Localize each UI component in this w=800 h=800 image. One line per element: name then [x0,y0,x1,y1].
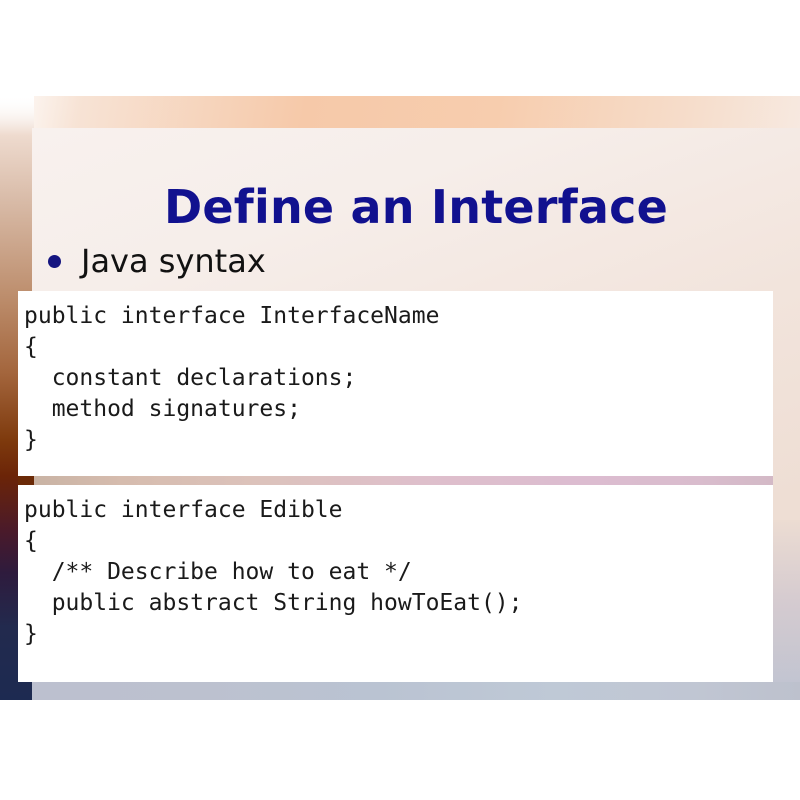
code-gap-sliver-left [18,476,34,485]
page-title: Define an Interface [32,173,800,241]
code-block-interface-syntax: public interface InterfaceName { constan… [18,291,773,476]
bullet-item-label: Java syntax [81,245,266,277]
code-block-separator [34,476,773,485]
code-text: public interface Edible { /** Describe h… [24,495,773,650]
right-edge-wash [773,520,800,700]
code-block-edible-example: public interface Edible { /** Describe h… [18,485,773,682]
top-accent-band [0,96,800,132]
slide-canvas: Define an Interface Java syntax public i… [0,0,800,800]
bullet-dot-icon [48,255,61,268]
bullet-item-java-syntax: Java syntax [48,238,266,284]
slide-footer-strip [32,682,800,700]
code-text: public interface InterfaceName { constan… [24,301,773,456]
